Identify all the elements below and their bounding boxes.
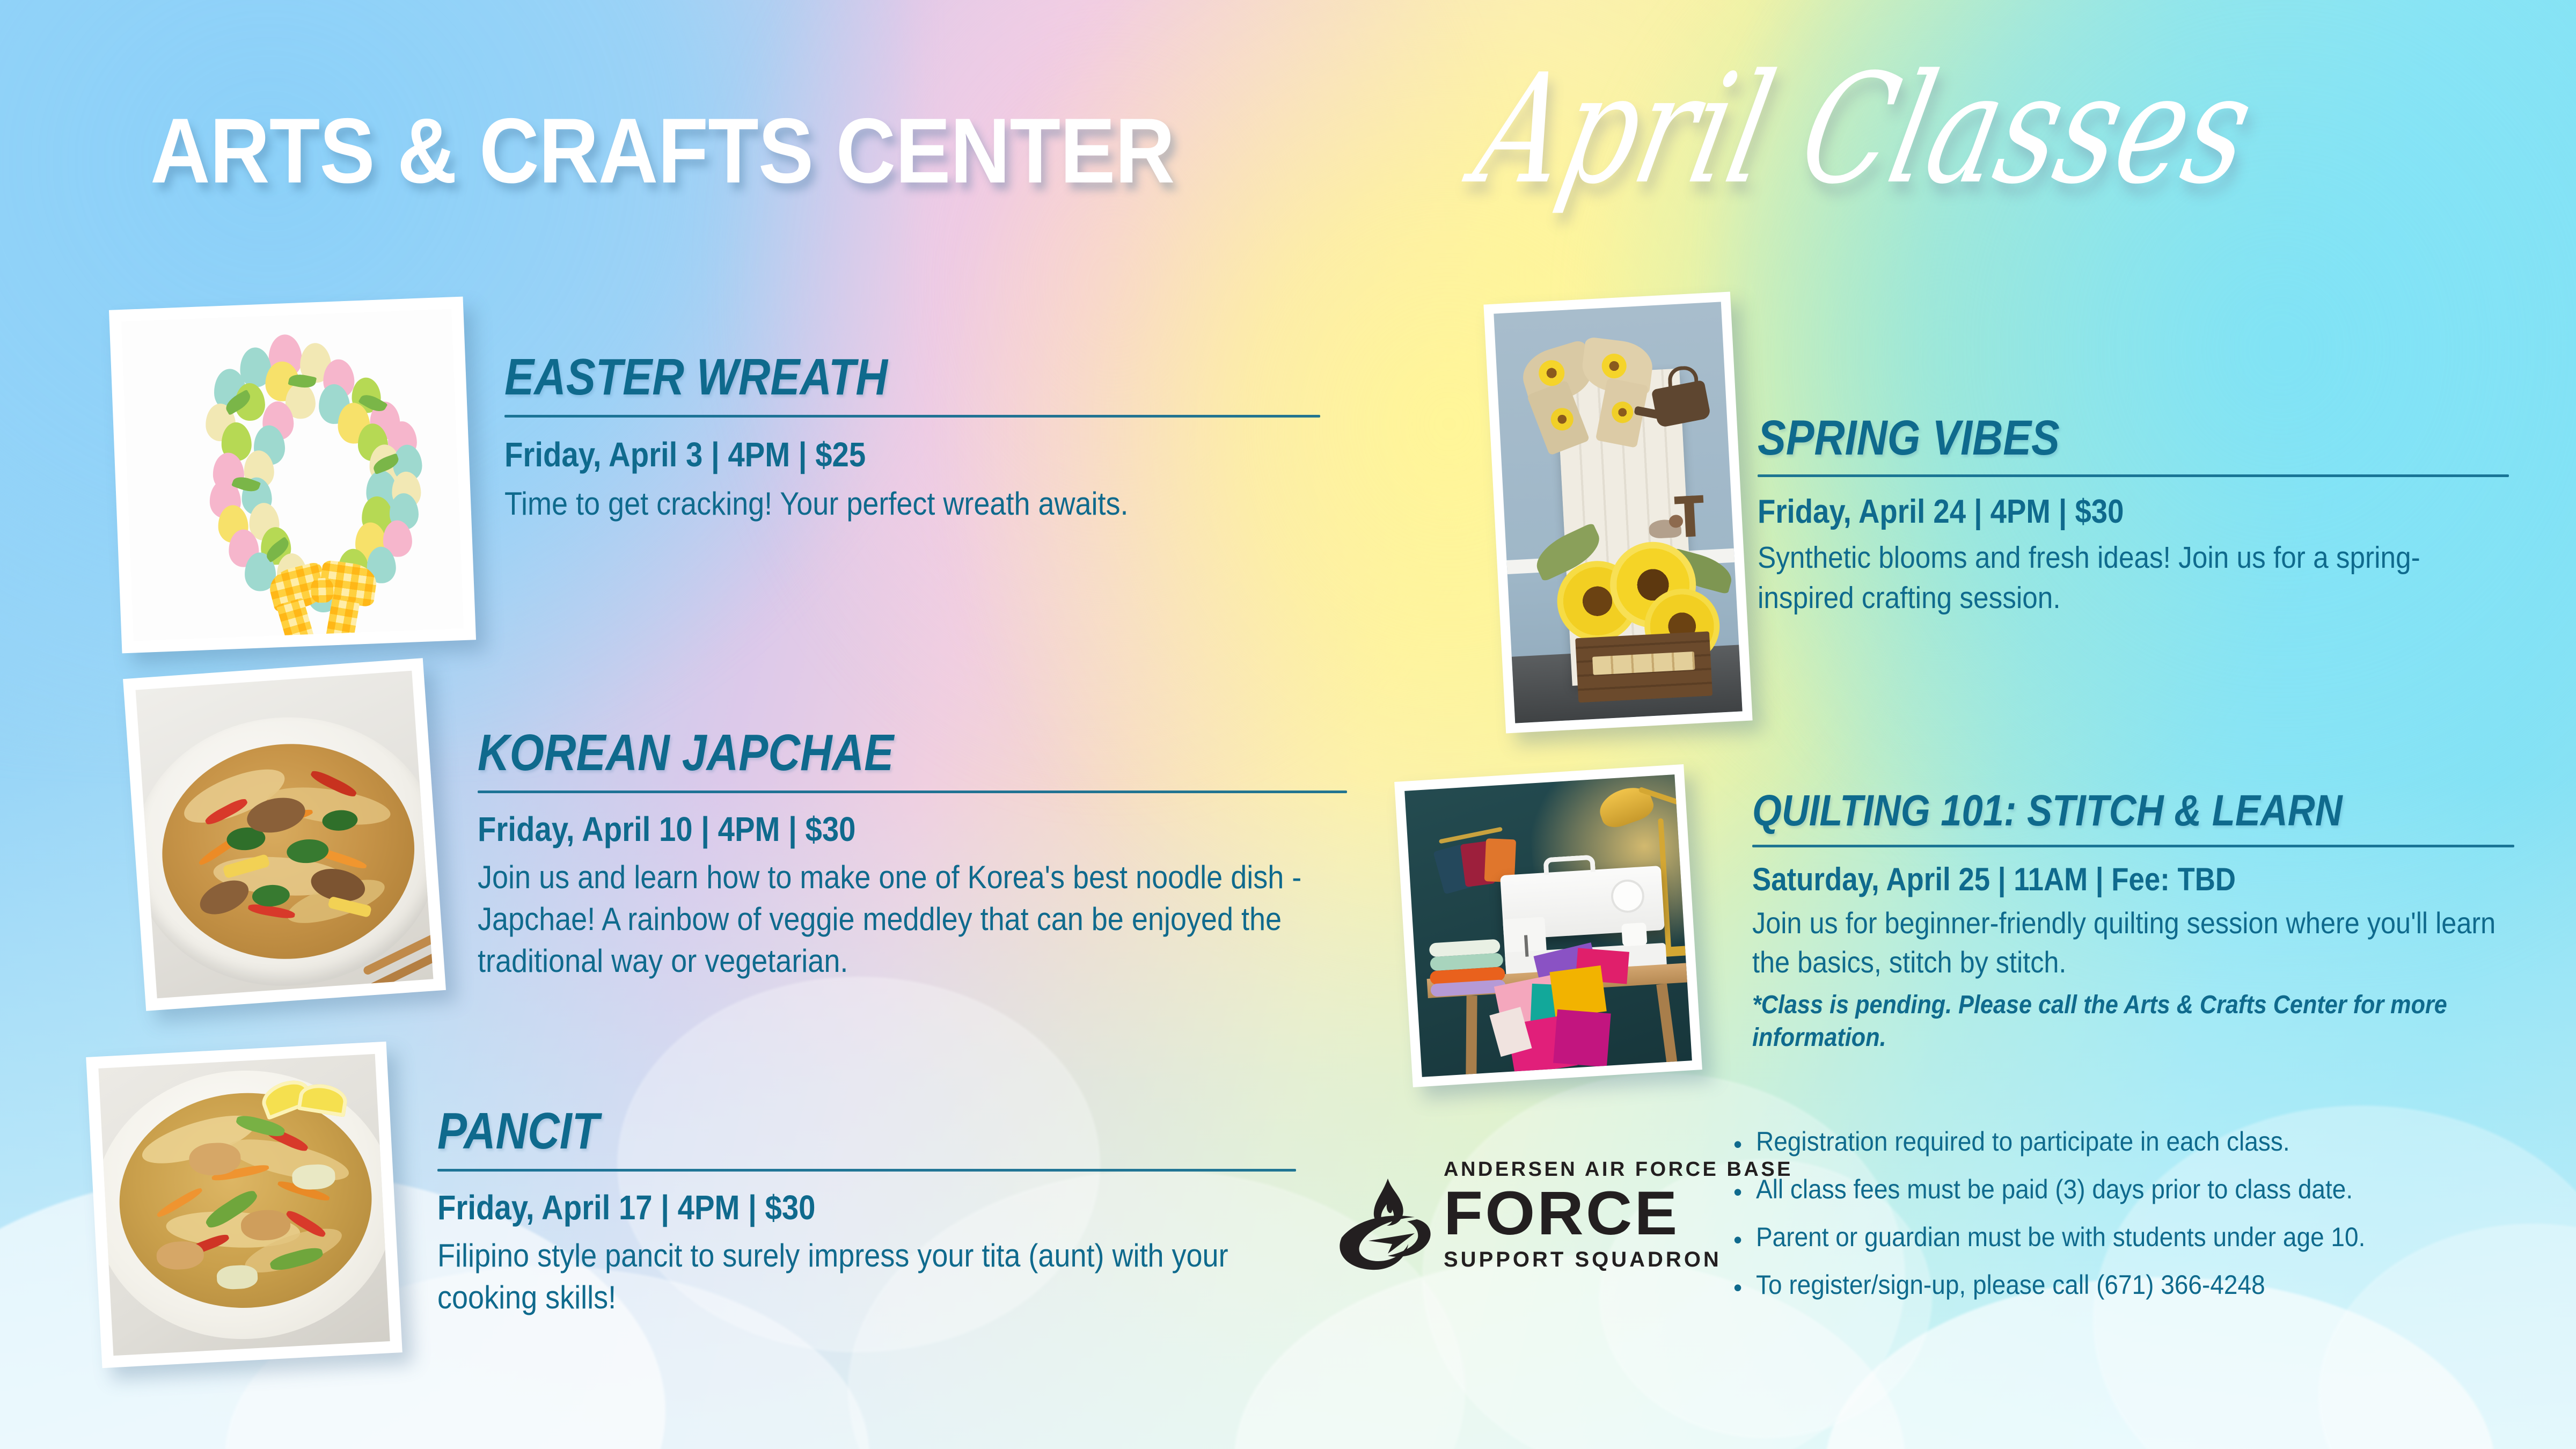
- bullet-icon: •: [1733, 1230, 1742, 1250]
- photo-inner: [121, 309, 464, 641]
- sunflower-arrangement-photo: [1483, 292, 1752, 734]
- class-schedule: Friday, April 17 | 4PM | $30: [437, 1189, 1203, 1227]
- logo-mid-line: FORCE: [1444, 1183, 1734, 1245]
- class-entry-easter-wreath: EASTER WREATH Friday, April 3 | 4PM | $2…: [504, 352, 1331, 525]
- class-schedule: Friday, April 3 | 4PM | $25: [504, 436, 1232, 474]
- list-item: • All class fees must be paid (3) days p…: [1733, 1175, 2495, 1204]
- table-leg: [1656, 983, 1679, 1075]
- class-description: Time to get cracking! Your perfect wreat…: [504, 483, 1326, 525]
- class-title: QUILTING 101: STITCH & LEARN: [1752, 789, 2417, 833]
- title-underline: [478, 791, 1347, 793]
- registration-notes-list: • Registration required to participate i…: [1733, 1127, 2495, 1318]
- wreath-bow-knot: [310, 577, 334, 603]
- sewing-machine-dial: [1621, 923, 1647, 947]
- note-text: To register/sign-up, please call (671) 3…: [1756, 1270, 2265, 1300]
- title-script-text: April Classes: [1465, 55, 2264, 206]
- title-underline: [504, 415, 1320, 418]
- title-underline: [437, 1169, 1296, 1172]
- bullet-icon: •: [1733, 1182, 1742, 1202]
- bullet-icon: •: [1733, 1135, 1742, 1154]
- poster-root: ARTS & CRAFTS CENTER April Classes: [0, 0, 2576, 1449]
- pancit-plate-photo: [86, 1042, 402, 1368]
- list-item: • To register/sign-up, please call (671)…: [1733, 1270, 2495, 1300]
- photo-inner: [136, 671, 434, 999]
- class-entry-spring-vibes: SPRING VIBES Friday, April 24 | 4PM | $3…: [1758, 413, 2520, 618]
- list-item: • Parent or guardian must be with studen…: [1733, 1223, 2495, 1252]
- fss-flame-swoosh-icon: [1336, 1170, 1444, 1277]
- bullet-icon: •: [1733, 1278, 1742, 1298]
- logo-bottom-line: SUPPORT SQUADRON: [1444, 1249, 1723, 1270]
- fss-logo-text: ANDERSEN AIR FORCE BASE FORCE SUPPORT SQ…: [1444, 1159, 1723, 1270]
- class-entry-korean-japchae: KOREAN JAPCHAE Friday, April 10 | 4PM | …: [478, 727, 1358, 982]
- list-item: • Registration required to participate i…: [1733, 1127, 2495, 1157]
- quilt-patch: [1553, 1009, 1611, 1067]
- photo-inner: [1494, 302, 1742, 723]
- class-title: EASTER WREATH: [504, 352, 1215, 403]
- class-schedule: Saturday, April 25 | 11AM | Fee: TBD: [1752, 861, 2432, 897]
- page-title: ARTS & CRAFTS CENTER: [150, 105, 1288, 197]
- class-title: PANCIT: [437, 1106, 1185, 1157]
- note-text: Registration required to participate in …: [1756, 1127, 2290, 1157]
- title-main-text: ARTS & CRAFTS CENTER: [150, 105, 1174, 197]
- class-schedule: Friday, April 10 | 4PM | $30: [478, 810, 1252, 849]
- sewing-machine-handle: [1543, 854, 1596, 875]
- title-underline: [1752, 845, 2514, 847]
- title-underline: [1758, 474, 2509, 477]
- sewing-machine-quilt-photo: [1394, 764, 1702, 1087]
- table-leg: [1466, 996, 1477, 1077]
- class-description: Join us and learn how to make one of Kor…: [478, 857, 1371, 982]
- class-description: Synthetic blooms and fresh ideas! Join u…: [1758, 538, 2497, 617]
- japchae-noodle-bowl-photo: [123, 658, 446, 1011]
- class-pending-note: *Class is pending. Please call the Arts …: [1752, 989, 2506, 1055]
- class-title: KOREAN JAPCHAE: [478, 727, 1234, 779]
- class-schedule: Friday, April 24 | 4PM | $30: [1758, 493, 2428, 530]
- class-title: SPRING VIBES: [1758, 413, 2413, 463]
- note-text: Parent or guardian must be with students…: [1756, 1223, 2365, 1252]
- note-text: All class fees must be paid (3) days pri…: [1756, 1175, 2353, 1204]
- fss-logo: ANDERSEN AIR FORCE BASE FORCE SUPPORT SQ…: [1336, 1159, 1712, 1283]
- class-entry-quilting-101: QUILTING 101: STITCH & LEARN Saturday, A…: [1752, 789, 2525, 1055]
- logo-top-line: ANDERSEN AIR FORCE BASE: [1444, 1159, 1723, 1180]
- photo-inner: [1404, 774, 1692, 1077]
- photo-inner: [98, 1054, 390, 1356]
- class-description: Filipino style pancit to surely impress …: [437, 1235, 1312, 1319]
- class-entry-pancit: PANCIT Friday, April 17 | 4PM | $30 Fili…: [437, 1106, 1307, 1319]
- easter-egg-wreath-photo: [109, 297, 476, 654]
- class-description: Join us for beginner-friendly quilting s…: [1752, 904, 2506, 982]
- metal-numeral-one-serif: [1674, 495, 1704, 504]
